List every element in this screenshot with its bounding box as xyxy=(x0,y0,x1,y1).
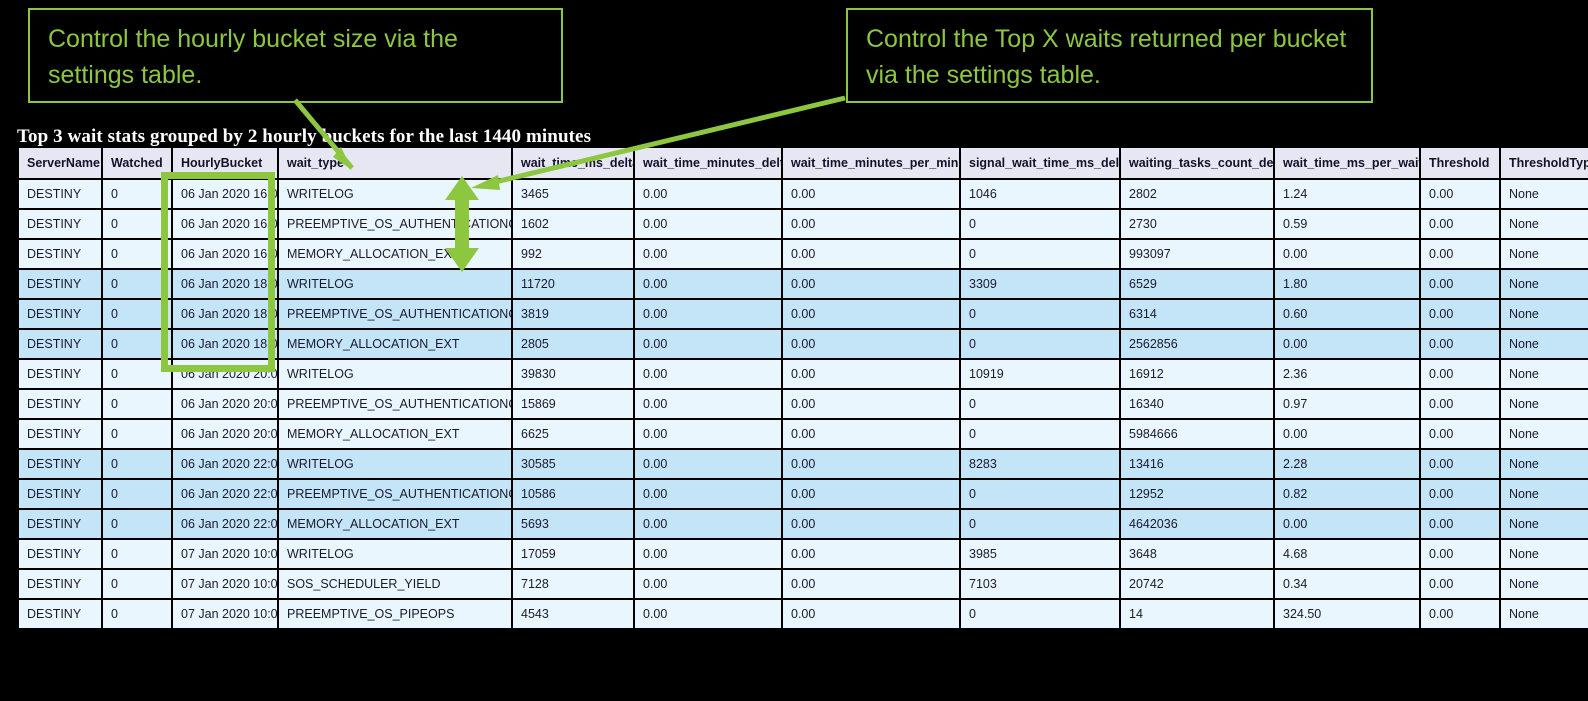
cell-threshold: 0.00 xyxy=(1421,300,1499,328)
cell-hourlybucket: 06 Jan 2020 20:00 xyxy=(173,390,277,418)
cell-watched: 0 xyxy=(103,570,171,598)
cell-servername: DESTINY xyxy=(19,450,101,478)
cell-wait-time-minutes-per-minute: 0.00 xyxy=(783,270,959,298)
cell-wait-time-minutes-per-minute: 0.00 xyxy=(783,390,959,418)
cell-threshold: 0.00 xyxy=(1421,570,1499,598)
cell-wait-type: WRITELOG xyxy=(279,360,511,388)
cell-threshold: 0.00 xyxy=(1421,600,1499,628)
cell-wait-time-minutes-per-minute: 0.00 xyxy=(783,570,959,598)
cell-signal-wait-time-ms-delta: 0 xyxy=(961,390,1119,418)
wait-stats-grid: ServerNameWatchedHourlyBucketwait_typewa… xyxy=(17,146,1569,630)
cell-thresholdtype: None xyxy=(1501,480,1588,508)
column-header-wait-time-ms-per-wait[interactable]: wait_time_ms_per_wait xyxy=(1275,148,1419,178)
cell-wait-time-minutes-per-minute: 0.00 xyxy=(783,360,959,388)
cell-servername: DESTINY xyxy=(19,360,101,388)
cell-signal-wait-time-ms-delta: 8283 xyxy=(961,450,1119,478)
cell-thresholdtype: None xyxy=(1501,240,1588,268)
cell-wait-time-minutes-per-minute: 0.00 xyxy=(783,300,959,328)
column-header-wait-type[interactable]: wait_type xyxy=(279,148,511,178)
cell-threshold: 0.00 xyxy=(1421,240,1499,268)
cell-threshold: 0.00 xyxy=(1421,360,1499,388)
cell-threshold: 0.00 xyxy=(1421,510,1499,538)
cell-hourlybucket: 06 Jan 2020 22:00 xyxy=(173,450,277,478)
cell-watched: 0 xyxy=(103,390,171,418)
cell-watched: 0 xyxy=(103,510,171,538)
cell-servername: DESTINY xyxy=(19,330,101,358)
cell-wait-time-ms-delta: 39830 xyxy=(513,360,633,388)
cell-waiting-tasks-count-delta: 12952 xyxy=(1121,480,1273,508)
column-header-wait-time-minutes-delta[interactable]: wait_time_minutes_delta xyxy=(635,148,781,178)
cell-thresholdtype: None xyxy=(1501,210,1588,238)
cell-threshold: 0.00 xyxy=(1421,330,1499,358)
cell-thresholdtype: None xyxy=(1501,360,1588,388)
cell-thresholdtype: None xyxy=(1501,600,1588,628)
cell-threshold: 0.00 xyxy=(1421,270,1499,298)
cell-servername: DESTINY xyxy=(19,600,101,628)
cell-wait-time-minutes-delta: 0.00 xyxy=(635,570,781,598)
cell-threshold: 0.00 xyxy=(1421,480,1499,508)
table-row[interactable]: DESTINY007 Jan 2020 10:00WRITELOG170590.… xyxy=(19,540,1588,568)
cell-watched: 0 xyxy=(103,600,171,628)
cell-wait-time-minutes-per-minute: 0.00 xyxy=(783,240,959,268)
cell-wait-time-minutes-per-minute: 0.00 xyxy=(783,480,959,508)
cell-wait-time-minutes-delta: 0.00 xyxy=(635,360,781,388)
cell-wait-time-minutes-delta: 0.00 xyxy=(635,180,781,208)
cell-wait-time-ms-delta: 10586 xyxy=(513,480,633,508)
cell-wait-type: WRITELOG xyxy=(279,180,511,208)
cell-wait-time-minutes-delta: 0.00 xyxy=(635,390,781,418)
column-header-threshold[interactable]: Threshold xyxy=(1421,148,1499,178)
cell-thresholdtype: None xyxy=(1501,330,1588,358)
cell-signal-wait-time-ms-delta: 0 xyxy=(961,210,1119,238)
cell-wait-time-ms-delta: 11720 xyxy=(513,270,633,298)
cell-wait-time-minutes-delta: 0.00 xyxy=(635,420,781,448)
cell-hourlybucket: 07 Jan 2020 10:00 xyxy=(173,570,277,598)
cell-hourlybucket: 06 Jan 2020 16:00 xyxy=(173,180,277,208)
cell-servername: DESTINY xyxy=(19,270,101,298)
cell-waiting-tasks-count-delta: 6529 xyxy=(1121,270,1273,298)
cell-signal-wait-time-ms-delta: 3309 xyxy=(961,270,1119,298)
callout-hourly-bucket: Control the hourly bucket size via the s… xyxy=(28,8,563,103)
cell-hourlybucket: 06 Jan 2020 18:00 xyxy=(173,300,277,328)
cell-hourlybucket: 06 Jan 2020 18:00 xyxy=(173,330,277,358)
cell-servername: DESTINY xyxy=(19,180,101,208)
cell-thresholdtype: None xyxy=(1501,270,1588,298)
cell-thresholdtype: None xyxy=(1501,510,1588,538)
cell-hourlybucket: 07 Jan 2020 10:00 xyxy=(173,540,277,568)
table-row[interactable]: DESTINY006 Jan 2020 22:00PREEMPTIVE_OS_A… xyxy=(19,480,1588,508)
cell-wait-time-ms-per-wait: 0.59 xyxy=(1275,210,1419,238)
cell-waiting-tasks-count-delta: 3648 xyxy=(1121,540,1273,568)
cell-waiting-tasks-count-delta: 16912 xyxy=(1121,360,1273,388)
cell-signal-wait-time-ms-delta: 0 xyxy=(961,600,1119,628)
cell-signal-wait-time-ms-delta: 7103 xyxy=(961,570,1119,598)
cell-hourlybucket: 06 Jan 2020 22:00 xyxy=(173,480,277,508)
cell-servername: DESTINY xyxy=(19,510,101,538)
cell-wait-time-minutes-per-minute: 0.00 xyxy=(783,600,959,628)
cell-wait-time-ms-per-wait: 324.50 xyxy=(1275,600,1419,628)
cell-signal-wait-time-ms-delta: 0 xyxy=(961,330,1119,358)
table-row[interactable]: DESTINY006 Jan 2020 22:00MEMORY_ALLOCATI… xyxy=(19,510,1588,538)
cell-thresholdtype: None xyxy=(1501,570,1588,598)
table-row[interactable]: DESTINY006 Jan 2020 16:00PREEMPTIVE_OS_A… xyxy=(19,210,1588,238)
column-header-watched[interactable]: Watched xyxy=(103,148,171,178)
cell-signal-wait-time-ms-delta: 0 xyxy=(961,240,1119,268)
cell-wait-time-ms-delta: 5693 xyxy=(513,510,633,538)
cell-wait-time-ms-delta: 15869 xyxy=(513,390,633,418)
cell-wait-time-ms-per-wait: 0.00 xyxy=(1275,510,1419,538)
cell-wait-time-ms-per-wait: 0.82 xyxy=(1275,480,1419,508)
cell-watched: 0 xyxy=(103,450,171,478)
cell-threshold: 0.00 xyxy=(1421,210,1499,238)
cell-waiting-tasks-count-delta: 2730 xyxy=(1121,210,1273,238)
cell-wait-time-minutes-delta: 0.00 xyxy=(635,270,781,298)
cell-hourlybucket: 06 Jan 2020 20:00 xyxy=(173,420,277,448)
cell-thresholdtype: None xyxy=(1501,540,1588,568)
cell-wait-time-minutes-delta: 0.00 xyxy=(635,540,781,568)
grid-title: Top 3 wait stats grouped by 2 hourly buc… xyxy=(17,126,591,148)
cell-thresholdtype: None xyxy=(1501,450,1588,478)
cell-wait-time-ms-delta: 3819 xyxy=(513,300,633,328)
cell-wait-time-minutes-per-minute: 0.00 xyxy=(783,180,959,208)
cell-waiting-tasks-count-delta: 4642036 xyxy=(1121,510,1273,538)
cell-signal-wait-time-ms-delta: 0 xyxy=(961,480,1119,508)
cell-threshold: 0.00 xyxy=(1421,540,1499,568)
cell-watched: 0 xyxy=(103,540,171,568)
column-header-thresholdtype[interactable]: ThresholdType xyxy=(1501,148,1588,178)
cell-wait-type: SOS_SCHEDULER_YIELD xyxy=(279,570,511,598)
cell-wait-time-minutes-per-minute: 0.00 xyxy=(783,450,959,478)
cell-wait-type: MEMORY_ALLOCATION_EXT xyxy=(279,240,511,268)
cell-waiting-tasks-count-delta: 5984666 xyxy=(1121,420,1273,448)
cell-watched: 0 xyxy=(103,420,171,448)
cell-watched: 0 xyxy=(103,270,171,298)
cell-servername: DESTINY xyxy=(19,570,101,598)
cell-hourlybucket: 06 Jan 2020 20:00 xyxy=(173,360,277,388)
cell-servername: DESTINY xyxy=(19,240,101,268)
column-header-wait-time-minutes-per-minute[interactable]: wait_time_minutes_per_minute xyxy=(783,148,959,178)
cell-wait-type: PREEMPTIVE_OS_AUTHENTICATIONOPS xyxy=(279,390,511,418)
cell-wait-time-ms-per-wait: 0.00 xyxy=(1275,420,1419,448)
cell-waiting-tasks-count-delta: 2562856 xyxy=(1121,330,1273,358)
cell-wait-time-minutes-delta: 0.00 xyxy=(635,300,781,328)
cell-wait-time-ms-delta: 2805 xyxy=(513,330,633,358)
cell-wait-time-minutes-delta: 0.00 xyxy=(635,330,781,358)
column-header-wait-time-ms-delta[interactable]: wait_time_ms_delta xyxy=(513,148,633,178)
cell-watched: 0 xyxy=(103,180,171,208)
cell-wait-type: MEMORY_ALLOCATION_EXT xyxy=(279,420,511,448)
cell-servername: DESTINY xyxy=(19,480,101,508)
cell-wait-time-minutes-delta: 0.00 xyxy=(635,510,781,538)
column-header-signal-wait-time-ms-delta[interactable]: signal_wait_time_ms_delta xyxy=(961,148,1119,178)
cell-signal-wait-time-ms-delta: 0 xyxy=(961,420,1119,448)
cell-wait-time-ms-per-wait: 1.24 xyxy=(1275,180,1419,208)
cell-wait-type: WRITELOG xyxy=(279,270,511,298)
cell-thresholdtype: None xyxy=(1501,390,1588,418)
cell-wait-type: PREEMPTIVE_OS_AUTHENTICATIONOPS xyxy=(279,300,511,328)
cell-wait-time-ms-delta: 4543 xyxy=(513,600,633,628)
cell-threshold: 0.00 xyxy=(1421,180,1499,208)
cell-signal-wait-time-ms-delta: 0 xyxy=(961,510,1119,538)
cell-waiting-tasks-count-delta: 13416 xyxy=(1121,450,1273,478)
cell-hourlybucket: 06 Jan 2020 16:00 xyxy=(173,240,277,268)
cell-watched: 0 xyxy=(103,330,171,358)
results-table: ServerNameWatchedHourlyBucketwait_typewa… xyxy=(17,146,1588,630)
cell-hourlybucket: 07 Jan 2020 10:00 xyxy=(173,600,277,628)
cell-thresholdtype: None xyxy=(1501,180,1588,208)
cell-wait-time-ms-delta: 992 xyxy=(513,240,633,268)
cell-watched: 0 xyxy=(103,360,171,388)
cell-wait-type: MEMORY_ALLOCATION_EXT xyxy=(279,510,511,538)
cell-servername: DESTINY xyxy=(19,300,101,328)
cell-wait-time-ms-delta: 3465 xyxy=(513,180,633,208)
cell-signal-wait-time-ms-delta: 0 xyxy=(961,300,1119,328)
cell-wait-time-minutes-per-minute: 0.00 xyxy=(783,510,959,538)
cell-servername: DESTINY xyxy=(19,210,101,238)
cell-wait-time-ms-delta: 30585 xyxy=(513,450,633,478)
cell-hourlybucket: 06 Jan 2020 22:00 xyxy=(173,510,277,538)
column-header-servername[interactable]: ServerName xyxy=(19,148,101,178)
cell-wait-type: PREEMPTIVE_OS_PIPEOPS xyxy=(279,600,511,628)
cell-waiting-tasks-count-delta: 16340 xyxy=(1121,390,1273,418)
cell-wait-time-minutes-delta: 0.00 xyxy=(635,600,781,628)
cell-wait-time-ms-per-wait: 4.68 xyxy=(1275,540,1419,568)
cell-wait-type: PREEMPTIVE_OS_AUTHENTICATIONOPS xyxy=(279,210,511,238)
cell-wait-time-minutes-delta: 0.00 xyxy=(635,240,781,268)
cell-wait-type: PREEMPTIVE_OS_AUTHENTICATIONOPS xyxy=(279,480,511,508)
cell-wait-time-ms-per-wait: 2.28 xyxy=(1275,450,1419,478)
table-row[interactable]: DESTINY006 Jan 2020 18:00MEMORY_ALLOCATI… xyxy=(19,330,1588,358)
cell-hourlybucket: 06 Jan 2020 16:00 xyxy=(173,210,277,238)
cell-wait-time-ms-per-wait: 0.00 xyxy=(1275,240,1419,268)
table-row[interactable]: DESTINY007 Jan 2020 10:00PREEMPTIVE_OS_P… xyxy=(19,600,1588,628)
cell-wait-time-ms-per-wait: 0.60 xyxy=(1275,300,1419,328)
cell-wait-time-minutes-delta: 0.00 xyxy=(635,210,781,238)
table-row[interactable]: DESTINY006 Jan 2020 18:00WRITELOG117200.… xyxy=(19,270,1588,298)
cell-wait-time-ms-delta: 1602 xyxy=(513,210,633,238)
cell-wait-time-ms-delta: 7128 xyxy=(513,570,633,598)
cell-threshold: 0.00 xyxy=(1421,450,1499,478)
cell-waiting-tasks-count-delta: 14 xyxy=(1121,600,1273,628)
cell-signal-wait-time-ms-delta: 1046 xyxy=(961,180,1119,208)
cell-threshold: 0.00 xyxy=(1421,420,1499,448)
cell-signal-wait-time-ms-delta: 10919 xyxy=(961,360,1119,388)
cell-hourlybucket: 06 Jan 2020 18:00 xyxy=(173,270,277,298)
cell-waiting-tasks-count-delta: 20742 xyxy=(1121,570,1273,598)
cell-wait-time-ms-per-wait: 2.36 xyxy=(1275,360,1419,388)
column-header-hourlybucket[interactable]: HourlyBucket xyxy=(173,148,277,178)
cell-wait-time-minutes-per-minute: 0.00 xyxy=(783,210,959,238)
table-row[interactable]: DESTINY007 Jan 2020 10:00SOS_SCHEDULER_Y… xyxy=(19,570,1588,598)
cell-wait-type: WRITELOG xyxy=(279,450,511,478)
cell-wait-time-ms-delta: 6625 xyxy=(513,420,633,448)
table-row[interactable]: DESTINY006 Jan 2020 20:00PREEMPTIVE_OS_A… xyxy=(19,390,1588,418)
cell-wait-type: WRITELOG xyxy=(279,540,511,568)
cell-threshold: 0.00 xyxy=(1421,390,1499,418)
table-row[interactable]: DESTINY006 Jan 2020 20:00MEMORY_ALLOCATI… xyxy=(19,420,1588,448)
cell-wait-time-minutes-delta: 0.00 xyxy=(635,450,781,478)
cell-wait-time-minutes-per-minute: 0.00 xyxy=(783,420,959,448)
cell-waiting-tasks-count-delta: 6314 xyxy=(1121,300,1273,328)
cell-servername: DESTINY xyxy=(19,420,101,448)
column-header-waiting-tasks-count-delta[interactable]: waiting_tasks_count_delta xyxy=(1121,148,1273,178)
cell-watched: 0 xyxy=(103,300,171,328)
cell-servername: DESTINY xyxy=(19,540,101,568)
cell-servername: DESTINY xyxy=(19,390,101,418)
callout-top-x-waits: Control the Top X waits returned per buc… xyxy=(846,8,1373,103)
cell-waiting-tasks-count-delta: 993097 xyxy=(1121,240,1273,268)
table-row[interactable]: DESTINY006 Jan 2020 16:00MEMORY_ALLOCATI… xyxy=(19,240,1588,268)
cell-wait-time-minutes-delta: 0.00 xyxy=(635,480,781,508)
table-row[interactable]: DESTINY006 Jan 2020 16:00WRITELOG34650.0… xyxy=(19,180,1588,208)
table-row[interactable]: DESTINY006 Jan 2020 18:00PREEMPTIVE_OS_A… xyxy=(19,300,1588,328)
cell-thresholdtype: None xyxy=(1501,300,1588,328)
cell-wait-time-ms-per-wait: 0.34 xyxy=(1275,570,1419,598)
table-header-row: ServerNameWatchedHourlyBucketwait_typewa… xyxy=(19,148,1588,178)
cell-signal-wait-time-ms-delta: 3985 xyxy=(961,540,1119,568)
cell-watched: 0 xyxy=(103,210,171,238)
cell-wait-time-minutes-per-minute: 0.00 xyxy=(783,330,959,358)
cell-waiting-tasks-count-delta: 2802 xyxy=(1121,180,1273,208)
cell-wait-type: MEMORY_ALLOCATION_EXT xyxy=(279,330,511,358)
cell-thresholdtype: None xyxy=(1501,420,1588,448)
cell-wait-time-ms-per-wait: 0.00 xyxy=(1275,330,1419,358)
cell-wait-time-ms-per-wait: 0.97 xyxy=(1275,390,1419,418)
cell-watched: 0 xyxy=(103,480,171,508)
cell-wait-time-ms-delta: 17059 xyxy=(513,540,633,568)
table-row[interactable]: DESTINY006 Jan 2020 22:00WRITELOG305850.… xyxy=(19,450,1588,478)
cell-wait-time-minutes-per-minute: 0.00 xyxy=(783,540,959,568)
cell-wait-time-ms-per-wait: 1.80 xyxy=(1275,270,1419,298)
cell-watched: 0 xyxy=(103,240,171,268)
table-row[interactable]: DESTINY006 Jan 2020 20:00WRITELOG398300.… xyxy=(19,360,1588,388)
